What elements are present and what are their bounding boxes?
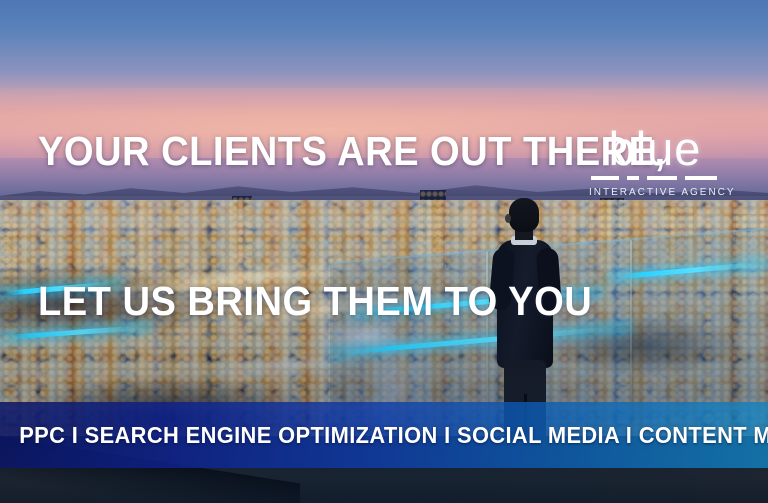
logo-rule-segment	[685, 176, 717, 180]
logo-rule-segment	[627, 176, 639, 180]
brand-logo[interactable]: blue INTERACTIVE AGENCY	[589, 124, 721, 198]
logo-rule-segment	[591, 176, 619, 180]
logo-wordmark: blue	[589, 124, 721, 173]
page-title: YOUR CLIENTS ARE OUT THERE, LET US BRING…	[38, 26, 666, 426]
services-list-text: PPC I SEARCH ENGINE OPTIMIZATION I SOCIA…	[19, 422, 749, 449]
advertisement-banner: YOUR CLIENTS ARE OUT THERE, LET US BRING…	[0, 0, 768, 503]
logo-underline-rules	[589, 174, 721, 183]
logo-tagline: INTERACTIVE AGENCY	[589, 187, 721, 198]
services-banner: PPC I SEARCH ENGINE OPTIMIZATION I SOCIA…	[0, 402, 768, 468]
headline-line-2: LET US BRING THEM TO YOU	[38, 276, 666, 326]
headline-line-1: YOUR CLIENTS ARE OUT THERE,	[38, 126, 666, 176]
logo-rule-segment	[647, 176, 677, 180]
